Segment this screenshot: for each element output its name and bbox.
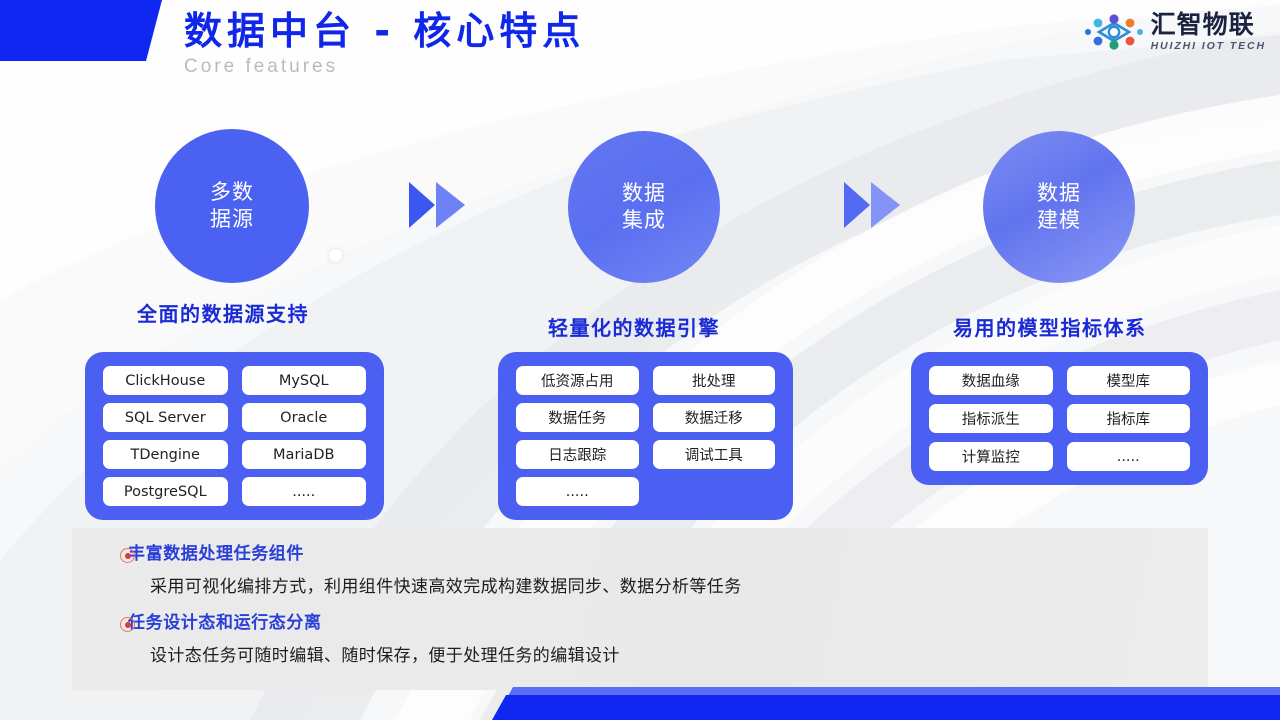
stage-label-3: 易用的模型指标体系 — [953, 312, 1147, 341]
note-heading: 任务设计态和运行态分离 — [128, 611, 1208, 635]
tag-item[interactable]: 调试工具 — [653, 440, 776, 469]
logo-name-en: HUIZHI IOT TECH — [1151, 41, 1266, 52]
stage-circle-3: 数据 建模 — [983, 131, 1135, 283]
tag-item[interactable]: 计算监控 — [929, 442, 1053, 471]
page-subtitle: Core features — [184, 56, 884, 78]
note-body: 设计态任务可随时编辑、随时保存，便于处理任务的编辑设计 — [150, 644, 1208, 668]
note-heading: 丰富数据处理任务组件 — [128, 542, 1208, 566]
tag-item[interactable]: 数据任务 — [516, 403, 639, 432]
tag-item[interactable]: MariaDB — [242, 440, 367, 469]
corner-accent-shape — [0, 0, 162, 61]
tag-item-more[interactable]: ..... — [1067, 442, 1191, 471]
target-bullet-icon — [120, 548, 135, 563]
brand-logo: 汇智物联 HUIZHI IOT TECH — [1085, 10, 1266, 54]
tag-item-more[interactable]: ..... — [516, 477, 639, 506]
tag-item[interactable]: 数据迁移 — [653, 403, 776, 432]
footer-accent-strip — [508, 687, 1280, 696]
logo-name-cn: 汇智物联 — [1151, 12, 1266, 37]
stage-tag-grid-3: 数据血缘 模型库 指标派生 指标库 计算监控 ..... — [929, 366, 1190, 471]
stage-circle-3-line1: 数据 — [1037, 180, 1081, 207]
page-title: 数据中台 - 核心特点 — [184, 8, 884, 54]
tag-item[interactable]: PostgreSQL — [103, 477, 228, 506]
stage-label-2: 轻量化的数据引擎 — [548, 312, 720, 341]
double-chevron-right-icon — [842, 179, 906, 231]
stage-tag-grid-1: ClickHouse MySQL SQL Server Oracle TDeng… — [103, 366, 366, 506]
tag-item[interactable]: 低资源占用 — [516, 366, 639, 395]
stage-tagbox-1: ClickHouse MySQL SQL Server Oracle TDeng… — [85, 352, 384, 520]
tag-item[interactable]: 日志跟踪 — [516, 440, 639, 469]
stage-circle-3-line2: 建模 — [1037, 207, 1081, 234]
notes-panel: 丰富数据处理任务组件 采用可视化编排方式，利用组件快速高效完成构建数据同步、数据… — [72, 528, 1208, 690]
double-chevron-right-icon — [407, 179, 471, 231]
tag-item[interactable]: SQL Server — [103, 403, 228, 432]
stage-tagbox-2: 低资源占用 批处理 数据任务 数据迁移 日志跟踪 调试工具 ..... — [498, 352, 793, 520]
tag-item[interactable]: ClickHouse — [103, 366, 228, 395]
note-body: 采用可视化编排方式，利用组件快速高效完成构建数据同步、数据分析等任务 — [150, 575, 1208, 599]
tag-item[interactable]: 指标派生 — [929, 404, 1053, 433]
tag-item[interactable]: TDengine — [103, 440, 228, 469]
stage-circle-1-line1: 多数 — [210, 179, 254, 206]
stage-tagbox-3: 数据血缘 模型库 指标派生 指标库 计算监控 ..... — [911, 352, 1208, 485]
tag-item[interactable]: 数据血缘 — [929, 366, 1053, 395]
slide-canvas: 数据中台 - 核心特点 Core features 汇智物联 HUIZHI IO… — [0, 0, 1280, 720]
slide-header: 数据中台 - 核心特点 Core features — [184, 8, 884, 78]
logo-text-block: 汇智物联 HUIZHI IOT TECH — [1151, 12, 1266, 52]
stage-circle-1: 多数 据源 — [155, 129, 309, 283]
target-bullet-icon — [120, 617, 135, 632]
tag-item[interactable]: 模型库 — [1067, 366, 1191, 395]
stage-circle-2-line2: 集成 — [622, 207, 666, 234]
tag-item[interactable]: 指标库 — [1067, 404, 1191, 433]
stage-tag-grid-2: 低资源占用 批处理 数据任务 数据迁移 日志跟踪 调试工具 ..... — [516, 366, 775, 506]
stage-label-1: 全面的数据源支持 — [137, 298, 309, 327]
tag-item[interactable]: MySQL — [242, 366, 367, 395]
tag-item[interactable]: 批处理 — [653, 366, 776, 395]
stage-circle-2: 数据 集成 — [568, 131, 720, 283]
tag-item[interactable]: Oracle — [242, 403, 367, 432]
footer-bar — [492, 695, 1280, 720]
stage-circle-1-line2: 据源 — [210, 206, 254, 233]
tag-item-more[interactable]: ..... — [242, 477, 367, 506]
molecule-nodes-icon — [1085, 10, 1143, 54]
note-item: 丰富数据处理任务组件 采用可视化编排方式，利用组件快速高效完成构建数据同步、数据… — [72, 542, 1208, 599]
decorative-dot — [329, 249, 342, 262]
note-item: 任务设计态和运行态分离 设计态任务可随时编辑、随时保存，便于处理任务的编辑设计 — [72, 611, 1208, 668]
stage-circle-2-line1: 数据 — [622, 180, 666, 207]
